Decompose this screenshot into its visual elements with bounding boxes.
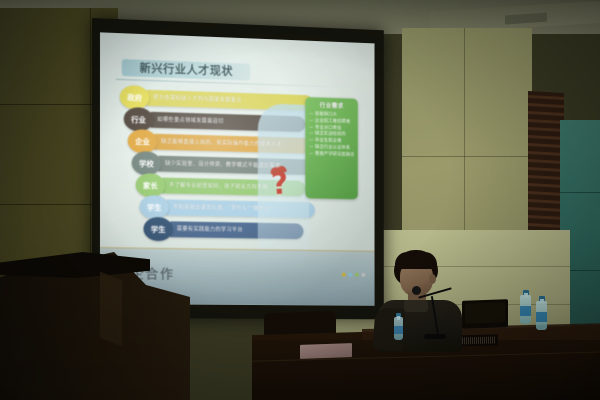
water-bottle-right <box>520 286 531 324</box>
podium-edge <box>100 272 122 347</box>
photo-scene: 新兴行业人才现状 政府把为急需短缺人才列为国家发展重点行业如哪些重点领域发展最迫… <box>0 0 600 400</box>
slide-row-badge: 企业 <box>128 129 158 154</box>
requirements-panel: 行业需求 — 技能缺口大— 企业招工难招聘难— 专业对口率低— 缺乏实战经验的—… <box>305 97 357 199</box>
water-bottle-right-2 <box>536 292 546 325</box>
requirements-panel-title: 行业需求 <box>309 100 354 110</box>
monitor <box>462 299 508 329</box>
presenter-hair-front <box>395 252 437 269</box>
slide-title: 新兴行业人才现状 <box>122 59 250 80</box>
presenter-collar <box>404 300 428 312</box>
slide-row-text: 需要有实践能力的学习平台 <box>177 224 243 233</box>
question-mark-icon: ? <box>266 164 293 204</box>
slide-row-badge: 学生 <box>140 195 169 219</box>
slide-row-badge: 政府 <box>120 85 150 110</box>
slide-row-badge: 行业 <box>124 107 154 132</box>
slide-row-badge: 学生 <box>143 217 172 241</box>
slide-row-badge: 学校 <box>132 151 161 176</box>
slide-row-badge: 家长 <box>136 173 165 197</box>
projection-screen-frame: 新兴行业人才现状 政府把为急需短缺人才列为国家发展重点行业如哪些重点领域发展最迫… <box>92 18 384 319</box>
slide-nav-dot <box>355 273 359 277</box>
slide-nav-dot <box>362 273 366 277</box>
microphone-head <box>412 286 421 295</box>
requirements-panel-item: — 需要产学研深度融合 <box>309 151 354 159</box>
requirements-panel-items: — 技能缺口大— 企业招工难招聘难— 专业对口率低— 缺乏实战经验的— 毕业生就… <box>309 112 354 159</box>
slide-nav-dots <box>342 273 365 277</box>
papers-secondary <box>300 343 352 359</box>
presenter <box>372 250 464 348</box>
presenter-ear <box>429 274 436 284</box>
water-bottle-presenter <box>394 310 403 340</box>
slide-nav-dot <box>348 273 352 277</box>
slide-nav-dot <box>342 273 346 277</box>
microphone-base <box>424 334 446 339</box>
